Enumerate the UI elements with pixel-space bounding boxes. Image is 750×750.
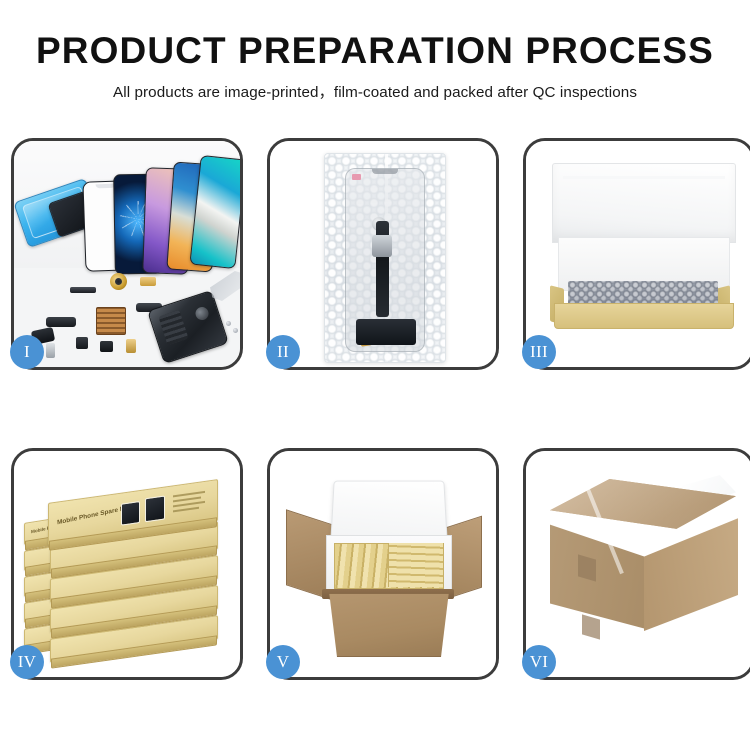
step-image-4: Mobile Phone Spare Parts Mobile Ph xyxy=(14,451,240,677)
box-spec-line xyxy=(173,507,199,512)
step-badge-1: I xyxy=(10,335,44,369)
step-image-3 xyxy=(526,141,750,367)
component-chip-icon xyxy=(100,341,113,352)
spare-parts-area xyxy=(14,263,240,367)
carton-face-right xyxy=(644,511,738,631)
page-header: PRODUCT PREPARATION PROCESS All products… xyxy=(0,0,750,102)
tray-front-panel xyxy=(554,303,734,329)
speaker-coil-icon xyxy=(110,273,127,290)
step-image-2 xyxy=(270,141,496,367)
wrapped-screen-icon xyxy=(345,168,425,352)
step-panel-4[interactable]: Mobile Phone Spare Parts Mobile Ph xyxy=(11,448,243,680)
driver-chip-icon xyxy=(372,235,392,257)
step-badge-6: VI xyxy=(522,645,556,679)
box-art-screen-icon xyxy=(145,496,165,523)
carton-tape-icon xyxy=(582,614,600,639)
gold-connector-icon xyxy=(126,339,136,353)
box-art-screen-icon xyxy=(121,501,140,526)
packed-retail-boxes-icon xyxy=(388,543,443,587)
screws-icon xyxy=(226,321,240,335)
step-panel-3[interactable]: III xyxy=(523,138,750,370)
bubble-wrap-bag-icon xyxy=(324,153,446,363)
carton-face-left xyxy=(550,513,646,629)
box-spec-line xyxy=(173,501,205,507)
process-steps-grid: I II xyxy=(11,138,739,680)
step-badge-4: IV xyxy=(10,645,44,679)
page-subtitle: All products are image-printed，film-coat… xyxy=(0,80,750,102)
step-image-5 xyxy=(270,451,496,677)
flex-cable-icon xyxy=(46,317,76,327)
carton-body-icon xyxy=(324,593,454,657)
step-image-6 xyxy=(526,451,750,677)
step-badge-5: V xyxy=(266,645,300,679)
sim-tray-icon xyxy=(46,343,55,358)
step-panel-1[interactable]: I xyxy=(11,138,243,370)
phone-chassis-icon xyxy=(147,290,229,364)
step-badge-3: III xyxy=(522,335,556,369)
styrofoam-lid-icon xyxy=(330,481,448,544)
connector-bar-icon xyxy=(70,287,96,293)
page-title: PRODUCT PREPARATION PROCESS xyxy=(0,32,750,71)
tweezers-icon xyxy=(210,271,240,301)
box-lid-icon xyxy=(552,163,736,243)
logic-board-icon xyxy=(356,319,416,345)
retail-box-stack-icon: Mobile Phone Spare Parts Mobile Ph xyxy=(20,475,240,665)
step-badge-2: II xyxy=(266,335,300,369)
copper-grid-icon xyxy=(96,307,126,335)
step-image-1 xyxy=(14,141,240,367)
component-chip-icon xyxy=(76,337,88,349)
gold-connector-icon xyxy=(140,277,156,286)
step-panel-6[interactable]: VI xyxy=(523,448,750,680)
step-panel-5[interactable]: V xyxy=(267,448,499,680)
step-panel-2[interactable]: II xyxy=(267,138,499,370)
pink-label-icon xyxy=(352,174,361,180)
